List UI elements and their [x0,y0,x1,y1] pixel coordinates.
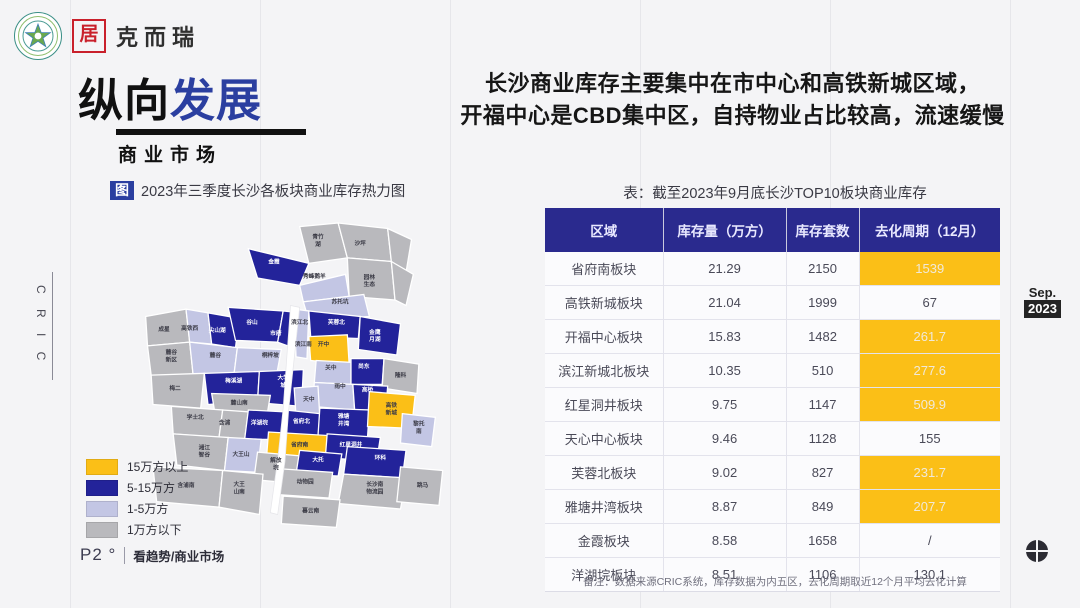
table-caption: 表：截至2023年9月底长沙TOP10板块商业库存 [540,182,1010,203]
map-region-label: 南 [416,427,422,435]
page-number: P2 ° [80,545,116,565]
legend-label: 1-5万方 [127,500,168,517]
table-cell-stock: 15.83 [663,320,786,354]
table-cell-stock: 9.46 [663,422,786,456]
brand-logo-bar: 居 克而瑞 [14,12,200,60]
brand-name: 克而瑞 [116,20,200,52]
map-region-label: 湘江 [199,443,211,451]
table-row[interactable]: 红星洞井板块9.751147509.9 [545,388,1000,422]
table-cell-stock: 10.35 [663,354,786,388]
map-region-label: 大学 [277,374,289,382]
table-header-row: 区域库存量（万方）库存套数去化周期（12月） [545,208,1000,252]
map-region-label: 环科 [375,454,387,462]
table-cell-area: 雅塘井湾板块 [545,490,663,524]
map-region-label: 滨江南 [295,340,312,348]
table-cell-cycle: 1539 [859,252,1000,286]
page-footer-divider [124,547,125,564]
table-cell-area: 天心中心板块 [545,422,663,456]
table-column-header: 去化周期（12月） [859,208,1000,252]
map-region-label: 垸 [273,464,279,472]
table-row[interactable]: 高铁新城板块21.04199967 [545,286,1000,320]
map-region-label: 麓山南 [231,399,248,407]
legend-label: 5-15万方 [127,479,175,496]
table-column-header: 库存量（万方） [663,208,786,252]
date-badge-month: Sep. [1024,286,1061,300]
page-footer: P2 ° 看趋势/商业市场 [80,545,224,565]
table-cell-cycle: 509.9 [859,388,1000,422]
map-region-label: 苏托坑 [331,298,348,306]
table-cell-area: 开福中心板块 [545,320,663,354]
map-region-label: 市府 [270,329,282,337]
cric-star-logo-icon [14,12,62,60]
map-region-label: 梅溪湖 [225,377,242,385]
table-cell-units: 1128 [786,422,859,456]
table-cell-area: 高铁新城板块 [545,286,663,320]
map-region-label: 新城 [386,409,398,417]
map-region-label: 含浦 [219,419,231,427]
map-region-label: 黎托 [413,420,425,428]
map-region-label: 物流园 [366,487,383,495]
map-region-label: 大王 [233,480,245,488]
map-region-label: 解放 [270,456,282,464]
table-row[interactable]: 省府南板块21.2921501539 [545,252,1000,286]
headline-line-1: 长沙商业库存主要集中在市中心和高铁新城区域， [410,68,1055,100]
legend-swatch [86,459,118,475]
map-region-label: 生态 [364,280,376,288]
table-row[interactable]: 天心中心板块9.461128155 [545,422,1000,456]
map-region-label: 智谷 [198,451,211,459]
table-row[interactable]: 开福中心板块15.831482261.7 [545,320,1000,354]
section-title-block: 纵向发展 商业市场 [78,78,306,167]
map-region-label: 开中 [318,340,330,348]
table-row[interactable]: 雅塘井湾板块8.87849207.7 [545,490,1000,524]
section-title-part2: 发展 [170,75,262,126]
map-region-label: 隆科 [395,371,407,379]
map-region-label: 高铁 [386,401,398,409]
table-cell-area: 滨江新城北板块 [545,354,663,388]
table-row[interactable]: 金霞板块8.581658/ [545,524,1000,558]
legend-item: 15万方以上 [86,458,188,475]
map-region-label: 暮云南 [301,507,319,515]
table-column-header: 区域 [545,208,663,252]
map-region-label: 关中 [325,364,337,372]
figure-caption-text: 2023年三季度长沙各板块商业库存热力图 [141,180,405,201]
table-cell-units: 510 [786,354,859,388]
table-cell-area: 红星洞井板块 [545,388,663,422]
table-cell-stock: 9.75 [663,388,786,422]
table-cell-area: 金霞板块 [545,524,663,558]
table-cell-units: 1999 [786,286,859,320]
page-section-label: 看趋势/商业市场 [133,546,224,565]
map-region-label: 大托 [312,455,324,463]
brand-seal-icon: 居 [72,19,106,53]
map-region-label: 省府南 [290,441,308,449]
table-cell-stock: 8.58 [663,524,786,558]
map-region-label: 园林 [364,273,376,281]
crosshair-icon [1026,540,1048,562]
figure-caption: 图 2023年三季度长沙各板块商业库存热力图 [110,180,405,201]
map-region-label: 秀峰鹅羊 [302,272,326,280]
table-cell-units: 1658 [786,524,859,558]
map-region-label: 金鹰 [368,328,381,336]
map-region-label: 长沙南 [366,480,383,488]
legend-item: 1万方以下 [86,521,188,538]
table-cell-cycle: 231.7 [859,456,1000,490]
map-region-label: 麓谷 [166,348,178,356]
map-region-label: 谷山 [246,318,258,326]
section-title-part1: 纵向 [78,75,170,126]
table-cell-stock: 21.29 [663,252,786,286]
map-region-label: 雨中 [334,382,346,390]
cric-vertical-mark: C R I C [34,272,53,380]
map-region-label: 学士北 [187,413,204,421]
map-region-label: 红星洞井 [340,441,363,449]
table-cell-area: 省府南板块 [545,252,663,286]
map-region-label: 动物园 [297,477,314,485]
legend-item: 5-15万方 [86,479,188,496]
table-cell-cycle: 155 [859,422,1000,456]
legend-swatch [86,480,118,496]
map-region-label: 雅塘 [337,412,350,420]
map-region-label: 大王山 [232,450,249,458]
map-region-label: 山南 [233,487,245,495]
table-row[interactable]: 芙蓉北板块9.02827231.7 [545,456,1000,490]
legend-label: 1万方以下 [127,521,182,538]
map-region-label: 青竹 [312,233,324,241]
map-region-label: 洋湖垸 [251,419,268,427]
table-cell-cycle: / [859,524,1000,558]
map-legend: 15万方以上5-15万方1-5万方1万方以下 [86,458,188,542]
date-badge-year: 2023 [1024,300,1061,318]
table-cell-stock: 21.04 [663,286,786,320]
map-region-label: 麓谷 [210,351,222,359]
table-row[interactable]: 滨江新城北板块10.35510277.6 [545,354,1000,388]
map-region-label: 滨江北 [291,318,308,326]
table-body: 省府南板块21.2921501539高铁新城板块21.04199967开福中心板… [545,252,1000,592]
map-region-label: 芙蓉北 [328,318,345,326]
table-cell-stock: 8.87 [663,490,786,524]
legend-swatch [86,501,118,517]
table-cell-units: 827 [786,456,859,490]
legend-item: 1-5万方 [86,500,188,517]
table-footnote: 备注：数据来源CRIC系统，库存数据为内五区，去化周期取近12个月平均去化计算 [540,574,1010,589]
title-underline [116,129,306,135]
map-region-label: 桐梓坡 [262,351,279,359]
headline-line-2: 开福中心是CBD集中区，自持物业占比较高，流速缓慢 [410,100,1055,132]
map-region-label: 新区 [166,355,178,363]
table-cell-area: 芙蓉北板块 [545,456,663,490]
map-region-label: 成星 [158,325,170,333]
map-region-label: 井湾 [338,420,350,428]
table-cell-units: 2150 [786,252,859,286]
table-cell-units: 849 [786,490,859,524]
table-cell-cycle: 261.7 [859,320,1000,354]
table-cell-cycle: 277.6 [859,354,1000,388]
section-subtitle: 商业市场 [118,140,306,167]
table-cell-cycle: 207.7 [859,490,1000,524]
map-region-label: 城 [280,381,286,389]
map-region-label: 湖 [315,240,321,248]
cric-vertical-text: C R I C [34,285,48,366]
map-region-label: 金霞 [267,257,280,265]
legend-label: 15万方以上 [127,458,188,475]
map-region-label: 尖山湖 [209,326,226,334]
map-region-label: 天中 [303,395,315,403]
cric-vertical-rule [52,272,53,380]
table-column-header: 库存套数 [786,208,859,252]
section-title: 纵向发展 [78,78,306,123]
map-region-label: 沙坪 [354,239,366,247]
page-headline: 长沙商业库存主要集中在市中心和高铁新城区域， 开福中心是CBD集中区，自持物业占… [410,68,1055,132]
map-region-label: 尚东 [358,362,370,370]
map-region-label: 梅二 [169,384,181,392]
table-cell-stock: 9.02 [663,456,786,490]
map-region-label: 省府北 [292,417,310,425]
table-cell-units: 1482 [786,320,859,354]
map-region-label: 高铁西 [181,324,198,332]
table-head: 区域库存量（万方）库存套数去化周期（12月） [545,208,1000,252]
map-region-label: 高桥 [362,386,374,394]
date-badge: Sep. 2023 [1024,286,1061,318]
legend-swatch [86,522,118,538]
map-region-label: 月湖 [368,335,381,343]
figure-chip: 图 [110,181,134,200]
table-cell-cycle: 67 [859,286,1000,320]
map-region-label: 跳马 [417,481,429,489]
table-cell-units: 1147 [786,388,859,422]
stock-table[interactable]: 区域库存量（万方）库存套数去化周期（12月） 省府南板块21.292150153… [545,208,1000,592]
